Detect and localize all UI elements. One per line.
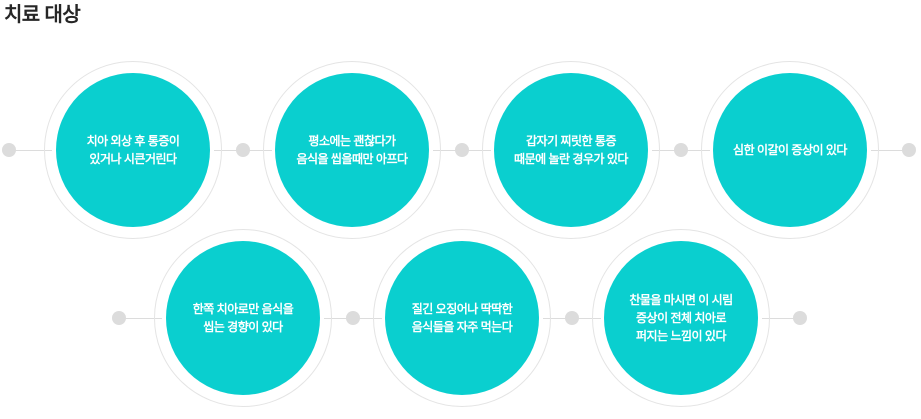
bubble-node-2[interactable]: 평소에는 괜찮다가 음식을 씹을때만 아프다: [263, 61, 441, 239]
treatment-target-infographic: 치료 대상 치아 외상 후 통증이 있거나 시큰거린다: [0, 0, 921, 419]
connector-dot-top-3-4: [674, 143, 688, 157]
bubble-node-4[interactable]: 심한 이갈이 증상이 있다: [701, 61, 879, 239]
connector-dot-bottom-5-6: [346, 311, 360, 325]
connector-dot-top-end: [902, 143, 916, 157]
bubble-flow-diagram: 치아 외상 후 통증이 있거나 시큰거린다 평소에는 괜찮다가 음식을 씹을때만…: [0, 0, 921, 419]
bubble-node-6-label: 질긴 오징어나 딱딱한 음식들을 자주 먹는다: [404, 300, 521, 336]
bubble-node-7[interactable]: 찬물을 마시면 이 시림 증상이 전체 치아로 퍼지는 느낌이 있다: [592, 229, 770, 407]
bubble-node-4-label: 심한 이갈이 증상이 있다: [725, 141, 855, 159]
bubble-node-3-label: 갑자기 찌릿한 통증 때문에 놀란 경우가 있다: [506, 132, 636, 168]
bubble-node-1-circle: 치아 외상 후 통증이 있거나 시큰거린다: [56, 73, 210, 227]
bubble-node-5-circle: 한쪽 치아로만 음식을 씹는 경향이 있다: [166, 241, 320, 395]
bubble-node-5[interactable]: 한쪽 치아로만 음식을 씹는 경향이 있다: [154, 229, 332, 407]
bubble-node-2-label: 평소에는 괜찮다가 음식을 씹을때만 아프다: [288, 132, 415, 168]
bubble-node-5-label: 한쪽 치아로만 음식을 씹는 경향이 있다: [185, 300, 302, 336]
connector-dot-top-2-3: [455, 143, 469, 157]
connector-dot-bottom-6-7: [565, 311, 579, 325]
bubble-node-7-circle: 찬물을 마시면 이 시림 증상이 전체 치아로 퍼지는 느낌이 있다: [604, 241, 758, 395]
connector-dot-top-1-2: [236, 143, 250, 157]
connector-dot-bottom-end: [793, 311, 807, 325]
bubble-node-7-label: 찬물을 마시면 이 시림 증상이 전체 치아로 퍼지는 느낌이 있다: [621, 291, 740, 345]
bubble-node-3-circle: 갑자기 찌릿한 통증 때문에 놀란 경우가 있다: [494, 73, 648, 227]
bubble-node-6-circle: 질긴 오징어나 딱딱한 음식들을 자주 먹는다: [385, 241, 539, 395]
bubble-node-6[interactable]: 질긴 오징어나 딱딱한 음식들을 자주 먹는다: [373, 229, 551, 407]
bubble-node-4-circle: 심한 이갈이 증상이 있다: [713, 73, 867, 227]
connector-dot-bottom-start: [112, 311, 126, 325]
bubble-node-1[interactable]: 치아 외상 후 통증이 있거나 시큰거린다: [44, 61, 222, 239]
connector-dot-top-start: [2, 143, 16, 157]
bubble-node-1-label: 치아 외상 후 통증이 있거나 시큰거린다: [79, 132, 188, 168]
bubble-node-2-circle: 평소에는 괜찮다가 음식을 씹을때만 아프다: [275, 73, 429, 227]
bubble-node-3[interactable]: 갑자기 찌릿한 통증 때문에 놀란 경우가 있다: [482, 61, 660, 239]
